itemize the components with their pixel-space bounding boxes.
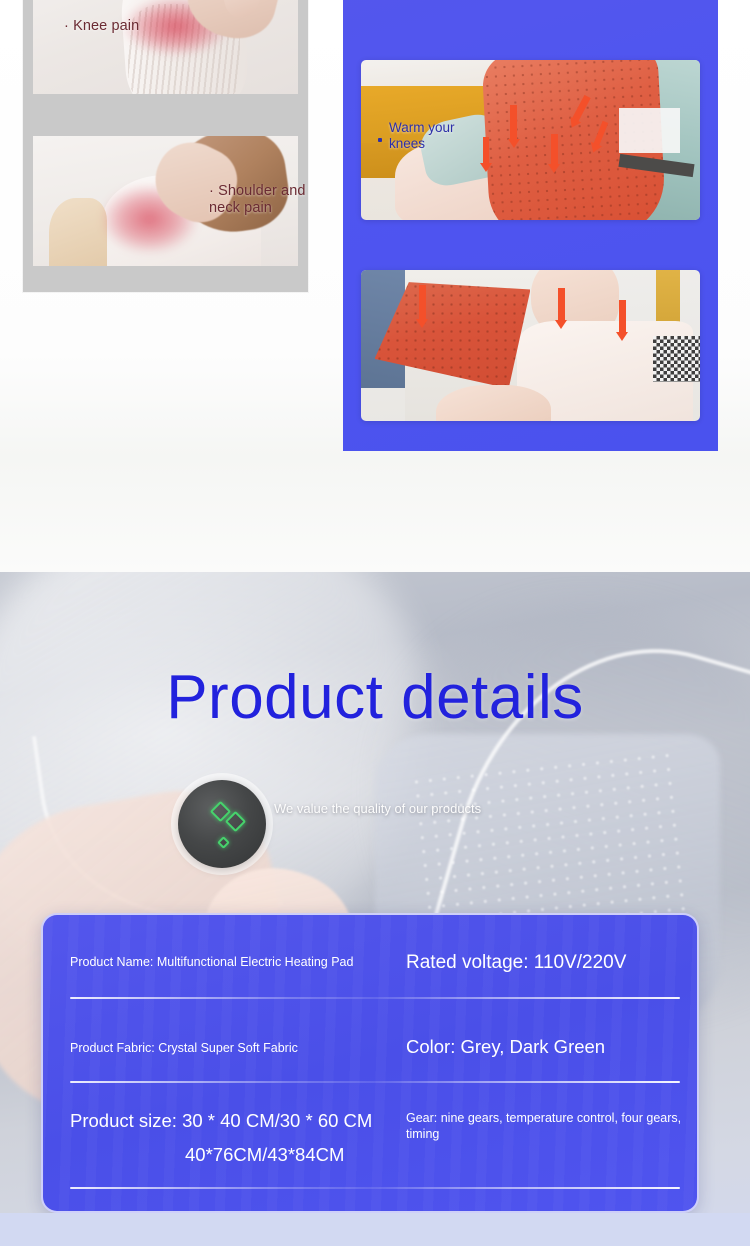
- product-detail-page: · Knee pain · Shoulder and neck pain: [0, 0, 750, 1246]
- spec-row: Product Name: Multifunctional Electric H…: [43, 949, 697, 1019]
- warm-shoulders-photo: [361, 270, 700, 421]
- spec-row: Product size: 30 * 40 CM/30 * 60 CM 40*7…: [43, 1103, 697, 1203]
- pain-label-shoulder: · Shoulder and neck pain: [209, 183, 306, 217]
- page-title: Product details: [0, 662, 750, 734]
- pain-label-knee-text: Knee pain: [73, 18, 139, 34]
- spec-divider: [70, 1187, 680, 1189]
- warm-label-knees-text: Warm your knees: [389, 120, 455, 151]
- pain-points-card: · Knee pain · Shoulder and neck pain: [23, 0, 308, 292]
- spec-product-size-extra: 40*76CM/43*84CM: [185, 1143, 485, 1166]
- specification-card: Product Name: Multifunctional Electric H…: [41, 913, 699, 1213]
- heat-arrow-icon: [551, 134, 558, 164]
- bottom-strip: [0, 1213, 750, 1246]
- quality-note: We value the quality of our products: [274, 801, 484, 817]
- spec-gear: Gear: nine gears, temperature control, f…: [406, 1111, 696, 1142]
- bullet-icon: ·: [209, 183, 214, 199]
- heat-arrow-icon: [483, 137, 489, 163]
- control-knob-icon: [178, 780, 266, 868]
- warming-panel: Warm your knees Warm shoulders and neck: [343, 0, 718, 451]
- bullet-icon: [378, 138, 382, 142]
- spec-product-fabric: Product Fabric: Crystal Super Soft Fabri…: [70, 1041, 370, 1057]
- knee-pain-photo: [33, 0, 298, 94]
- spec-product-size: Product size: 30 * 40 CM/30 * 60 CM: [70, 1109, 400, 1132]
- bullet-icon: ·: [64, 18, 69, 34]
- spec-divider: [70, 997, 680, 999]
- pain-label-knee: · Knee pain: [64, 18, 139, 35]
- heat-arrow-icon: [558, 288, 565, 320]
- spec-divider: [70, 1081, 680, 1083]
- spec-color: Color: Grey, Dark Green: [406, 1035, 686, 1058]
- heat-arrow-icon: [419, 285, 426, 319]
- heat-arrow-icon: [619, 300, 626, 332]
- spec-row: Product Fabric: Crystal Super Soft Fabri…: [43, 1033, 697, 1103]
- spec-rated-voltage: Rated voltage: 110V/220V: [406, 951, 686, 975]
- heat-arrow-icon: [510, 105, 517, 139]
- pain-label-shoulder-text: Shoulder and neck pain: [209, 183, 306, 216]
- warm-label-knees: Warm your knees: [389, 120, 455, 152]
- spec-product-name: Product Name: Multifunctional Electric H…: [70, 955, 370, 971]
- usage-scenes-section: · Knee pain · Shoulder and neck pain: [0, 0, 750, 572]
